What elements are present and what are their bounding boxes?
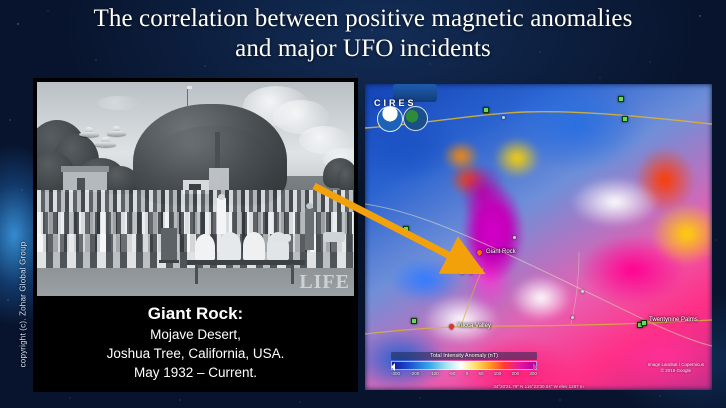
noaa-logo-icon — [377, 106, 403, 132]
map-marker-dot[interactable] — [483, 107, 489, 113]
legend-tick: -300 — [391, 371, 400, 376]
legend-arrow-left-icon — [387, 363, 395, 371]
map-coordinates-readout: 34°20'21.79" N 116°23'30.04" W elev 1287… — [365, 384, 712, 389]
caption-heading: Giant Rock: — [37, 300, 354, 325]
title-line-1: The correlation between positive magneti… — [18, 4, 708, 34]
ncei-logo-icon — [403, 106, 428, 131]
giant-rock-photograph: LIFE — [37, 82, 354, 296]
map-poi-dot[interactable] — [502, 116, 505, 119]
map-marker-dot[interactable] — [411, 318, 417, 324]
map-marker-dot[interactable] — [618, 96, 624, 102]
photo-panel: LIFE Giant Rock: Mojave Desert, Joshua T… — [33, 78, 358, 392]
ufo-saucer-2 — [107, 126, 126, 137]
slide-canvas: The correlation between positive magneti… — [0, 0, 726, 408]
legend-tick: 100 — [494, 371, 502, 376]
photo-caption: Giant Rock: Mojave Desert, Joshua Tree, … — [37, 300, 354, 388]
legend-tick: -100 — [430, 371, 439, 376]
title-line-2: and major UFO incidents — [18, 34, 708, 64]
map-attribution: Image Landsat / Copernicus © 2019 Google — [648, 362, 704, 374]
map-marker-dot[interactable] — [622, 116, 628, 122]
map-poi-dot[interactable] — [571, 316, 574, 319]
legend-arrow-right-icon — [533, 363, 541, 371]
attribution-line-2: © 2019 Google — [648, 368, 704, 374]
legend-title: Total Intensity Anomaly (nT) — [391, 352, 537, 360]
page-title: The correlation between positive magneti… — [18, 4, 708, 64]
legend-tick: 300 — [529, 371, 537, 376]
map-label-twentynine-palms: Twentynine Palms — [649, 317, 698, 323]
caption-line-1: Mojave Desert, — [37, 325, 354, 344]
legend-tick: -50 — [449, 371, 456, 376]
caption-line-3: May 1932 – Current. — [37, 363, 354, 382]
legend-tick-labels: -300 -200 -100 -50 0 50 100 200 300 — [391, 371, 537, 376]
legend-tick: -200 — [410, 371, 419, 376]
legend-tick: 50 — [478, 371, 483, 376]
magnetic-anomaly-map[interactable]: CIRES 62 Giant Rock Yucca Valley Twentyn… — [365, 84, 712, 390]
copyright-notice: copyright (c). Zohar Global Group — [19, 240, 28, 370]
twentynine-palms-marker-icon[interactable] — [641, 320, 647, 326]
caption-line-2: Joshua Tree, California, USA. — [37, 344, 354, 363]
map-poi-dot[interactable] — [581, 290, 584, 293]
legend-color-scale — [391, 361, 537, 370]
map-poi-dot[interactable] — [513, 236, 516, 239]
map-label-giant-rock: Giant Rock — [486, 249, 516, 255]
map-label-yucca-valley: Yucca Valley — [457, 323, 491, 329]
map-legend: Total Intensity Anomaly (nT) -300 -200 -… — [391, 352, 537, 376]
legend-tick: 0 — [466, 371, 469, 376]
life-watermark: LIFE — [299, 271, 350, 294]
legend-tick: 200 — [512, 371, 520, 376]
map-marker-dot[interactable] — [403, 226, 409, 232]
giant-rock-x-marker: X — [460, 258, 473, 278]
ufo-saucer-3 — [95, 137, 116, 148]
